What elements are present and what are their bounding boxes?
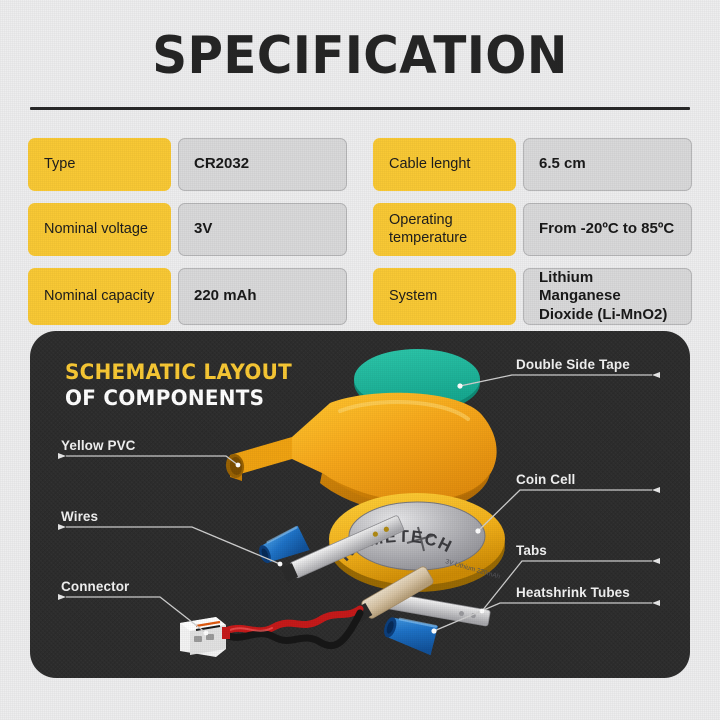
spec-value-system: Lithium Manganese Dioxide (Li-MnO2) bbox=[523, 268, 692, 325]
spec-row-type: Type CR2032 bbox=[28, 138, 347, 191]
callout-label-double-side-tape: Double Side Tape bbox=[516, 357, 630, 372]
title-divider bbox=[30, 107, 690, 110]
connector-part bbox=[180, 617, 230, 657]
spec-row-operating-temperature: Operating temperature From -20ºC to 85ºC bbox=[373, 203, 692, 256]
yellow-pvc-part bbox=[224, 393, 496, 513]
header: SPECIFICATION bbox=[0, 0, 720, 82]
spec-key-nominal-voltage: Nominal voltage bbox=[28, 203, 171, 256]
callout-label-heatshrink-tubes: Heatshrink Tubes bbox=[516, 585, 630, 600]
spec-value-operating-temperature: From -20ºC to 85ºC bbox=[523, 203, 692, 256]
spec-row-cable-length: Cable lenght 6.5 cm bbox=[373, 138, 692, 191]
spec-key-cable-length: Cable lenght bbox=[373, 138, 516, 191]
callout-label-wires: Wires bbox=[61, 509, 98, 524]
callout-label-coin-cell: Coin Cell bbox=[516, 472, 575, 487]
spec-row-nominal-capacity: Nominal capacity 220 mAh bbox=[28, 268, 347, 325]
callout-label-connector: Connector bbox=[61, 579, 129, 594]
spec-value-nominal-voltage: 3V bbox=[178, 203, 347, 256]
spec-key-operating-temperature: Operating temperature bbox=[373, 203, 516, 256]
spec-key-type: Type bbox=[28, 138, 171, 191]
spec-row-nominal-voltage: Nominal voltage 3V bbox=[28, 203, 347, 256]
spec-key-nominal-capacity: Nominal capacity bbox=[28, 268, 171, 325]
spec-row-system: System Lithium Manganese Dioxide (Li-MnO… bbox=[373, 268, 692, 325]
schematic-layout-panel: SCHEMATIC LAYOUT OF COMPONENTS bbox=[30, 331, 690, 678]
page-title: SPECIFICATION bbox=[25, 30, 695, 82]
callout-label-yellow-pvc: Yellow PVC bbox=[61, 438, 136, 453]
specification-table: Type CR2032 Cable lenght 6.5 cm Nominal … bbox=[28, 138, 692, 325]
spec-value-cable-length: 6.5 cm bbox=[523, 138, 692, 191]
spec-value-nominal-capacity: 220 mAh bbox=[178, 268, 347, 325]
spec-value-type: CR2032 bbox=[178, 138, 347, 191]
heatshrink-tube-blue-lower bbox=[381, 610, 440, 655]
wires-part bbox=[226, 609, 360, 646]
exploded-component-diagram: ROMETECH 3V Lithium 220mAh bbox=[30, 331, 690, 678]
spec-key-system: System bbox=[373, 268, 516, 325]
callout-label-tabs: Tabs bbox=[516, 543, 547, 558]
